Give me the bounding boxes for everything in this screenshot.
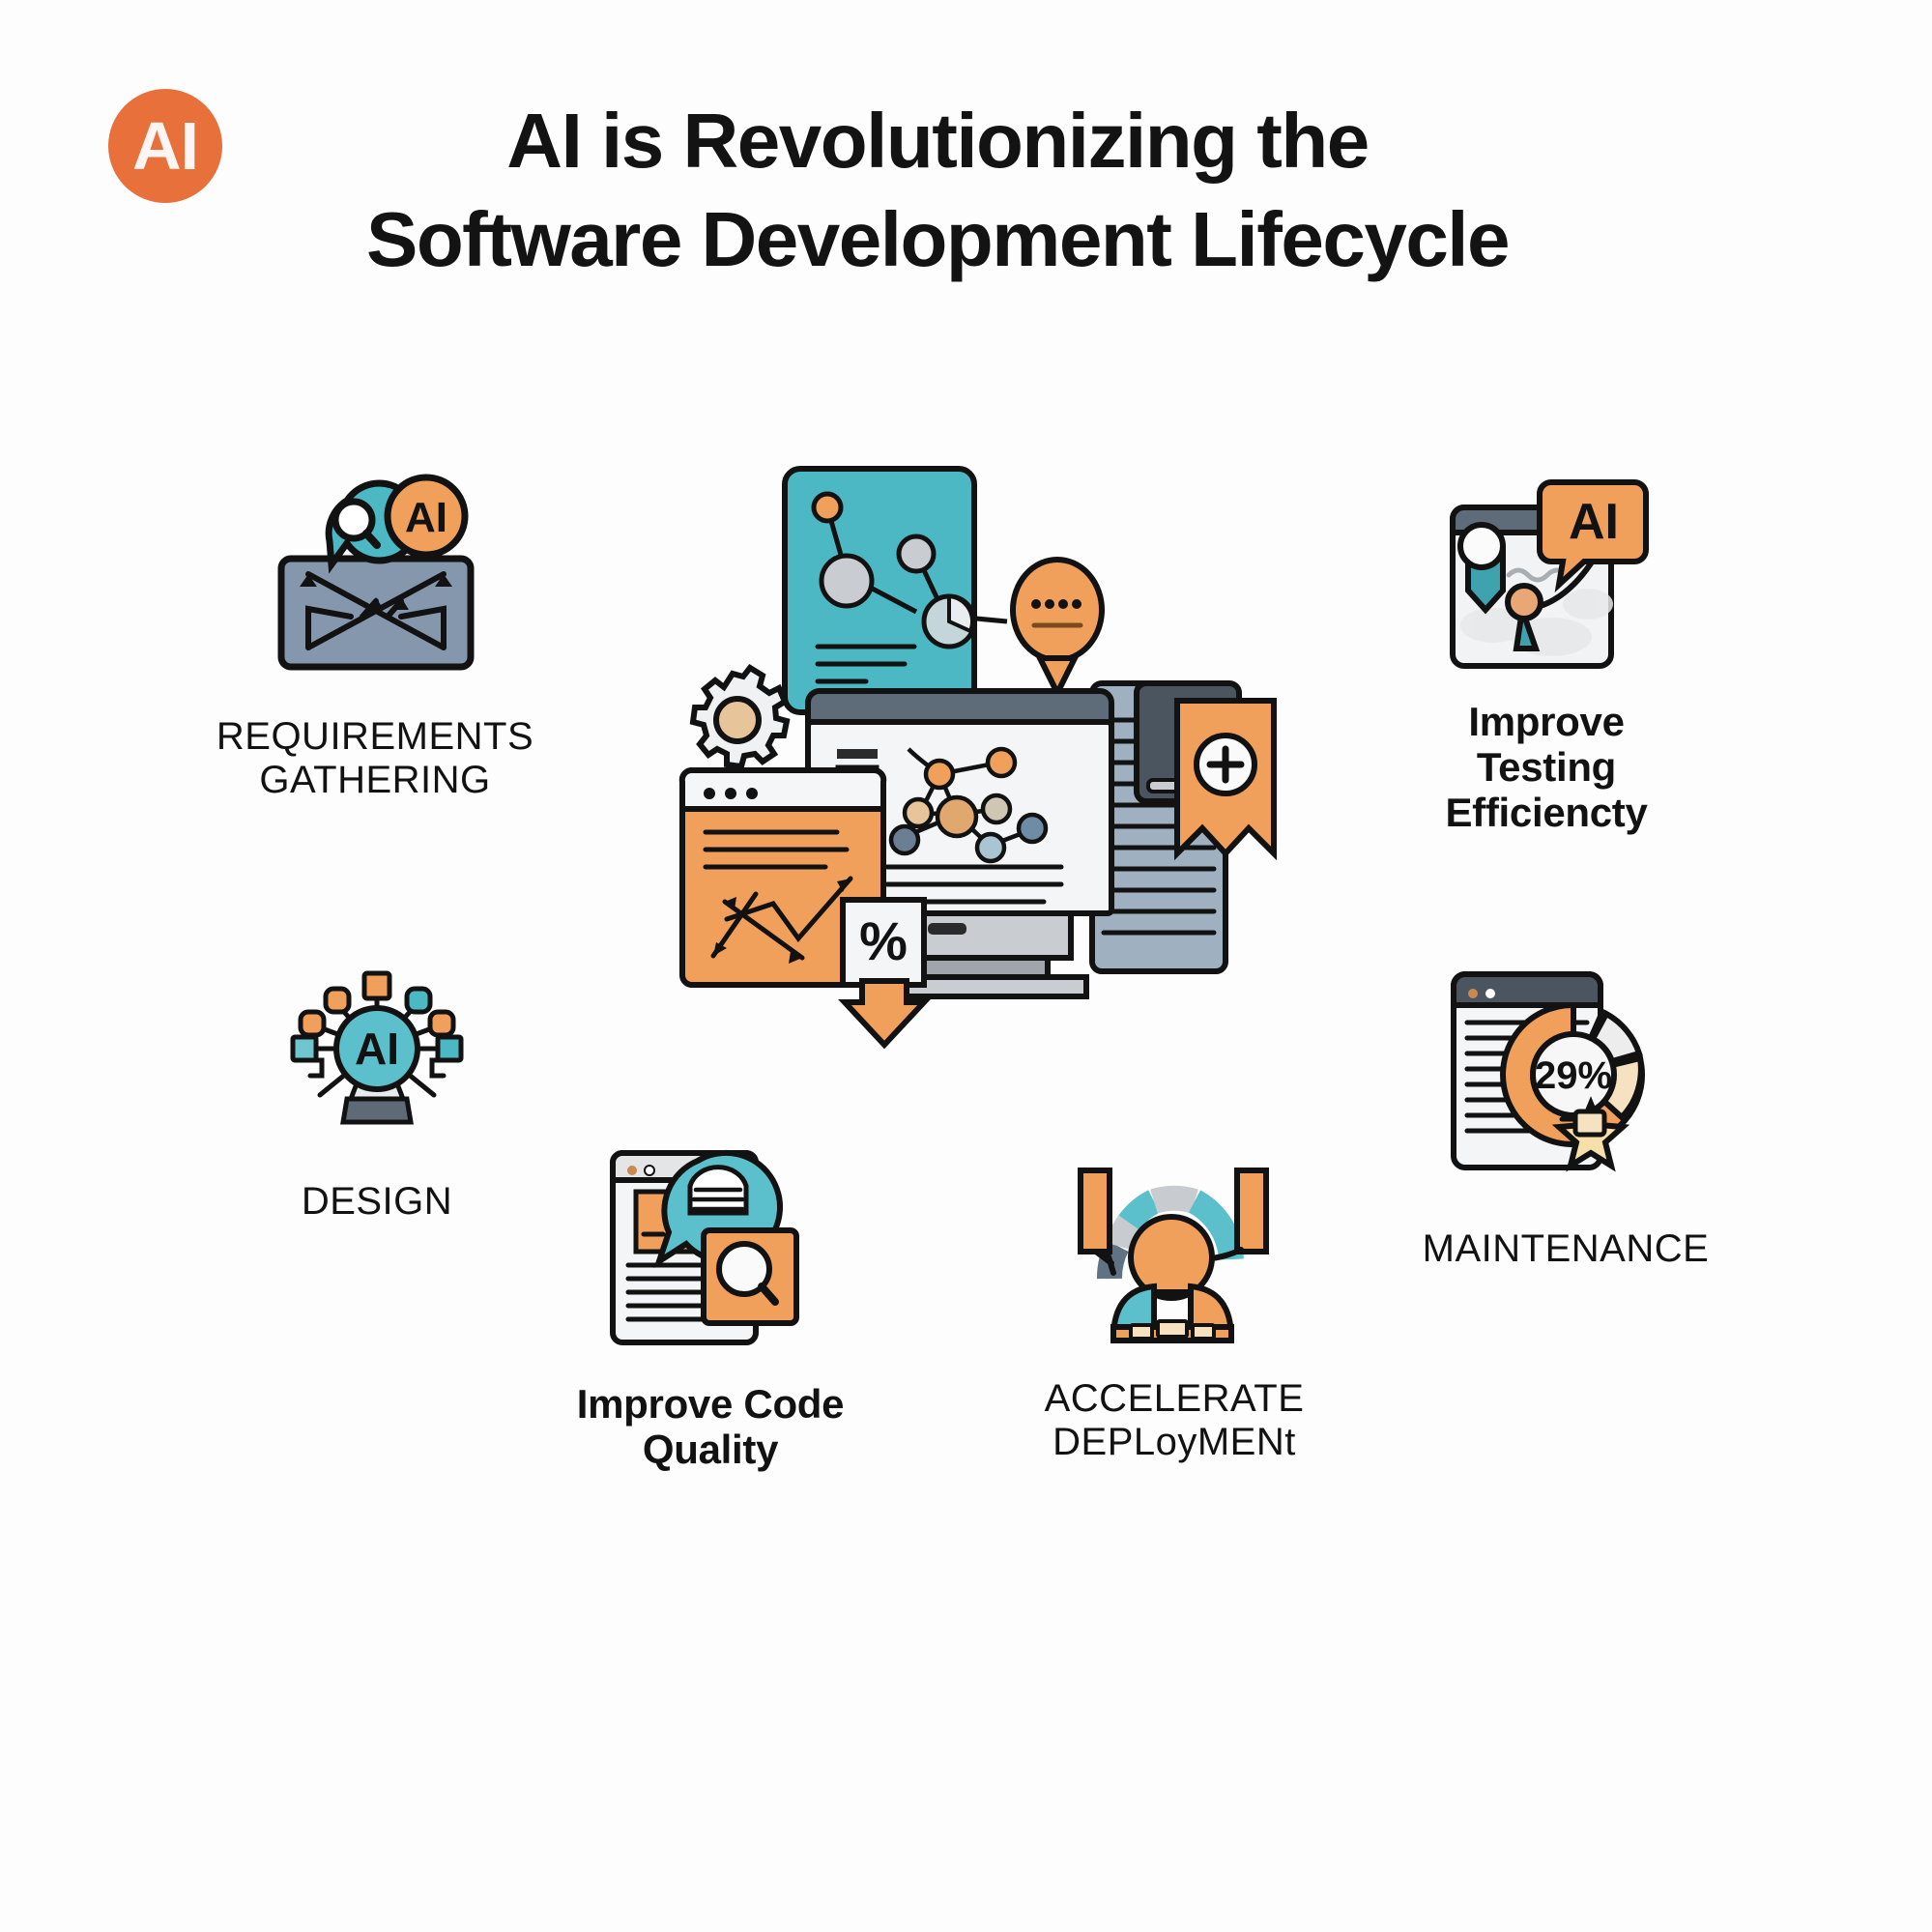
node-maintenance: 29% MAINTENANCE <box>1406 966 1725 1271</box>
percent-symbol: % <box>859 910 908 971</box>
requirements-ai-badge-text: AI <box>405 494 447 541</box>
testing-window-ai-icon: AI <box>1435 478 1658 681</box>
deployment-person-gauge-icon <box>1053 1145 1295 1358</box>
maintenance-donut-value: 29% <box>1535 1054 1612 1097</box>
node-accelerate-deployment: ACCELERATE DEPLoyMENt <box>1000 1145 1348 1464</box>
node-label-maintenance: MAINTENANCE <box>1423 1227 1710 1271</box>
requirements-chat-ai-icon: AI <box>254 454 496 696</box>
testing-ai-badge-text: AI <box>1569 494 1619 550</box>
design-ai-hub-text: AI <box>355 1024 399 1074</box>
node-label-design: DESIGN <box>302 1180 452 1224</box>
ai-logo-badge: AI <box>108 89 222 203</box>
node-design: AI DESIGN <box>261 952 493 1224</box>
maintenance-donut-report-icon: 29% <box>1440 966 1691 1189</box>
node-requirements-gathering: AI REQUIREMENTS GATHERING <box>211 454 539 802</box>
node-label-improve-testing-efficiency: Improve Testing Efficiencty <box>1445 699 1647 835</box>
infographic-canvas: AI AI is Revolutionizing the Software De… <box>0 0 1932 1932</box>
title-line-1: AI is Revolutionizing the <box>290 92 1585 190</box>
title-line-2: Software Development Lifecycle <box>290 190 1585 289</box>
node-label-improve-code-quality: Improve Code Quality <box>577 1381 844 1472</box>
design-ai-hub-icon: AI <box>275 952 478 1155</box>
node-improve-code-quality: Improve Code Quality <box>536 1145 884 1472</box>
ai-sdlc-central-cluster: % <box>667 440 1276 1000</box>
node-label-accelerate-deployment: ACCELERATE DEPLoyMENt <box>1045 1377 1305 1464</box>
code-review-window-icon <box>590 1145 831 1358</box>
ai-logo-text: AI <box>132 112 198 180</box>
page-title: AI is Revolutionizing the Software Devel… <box>290 92 1585 290</box>
node-label-requirements-gathering: REQUIREMENTS GATHERING <box>216 715 533 802</box>
node-improve-testing-efficiency: AI Improve Testing Efficiencty <box>1382 478 1711 835</box>
